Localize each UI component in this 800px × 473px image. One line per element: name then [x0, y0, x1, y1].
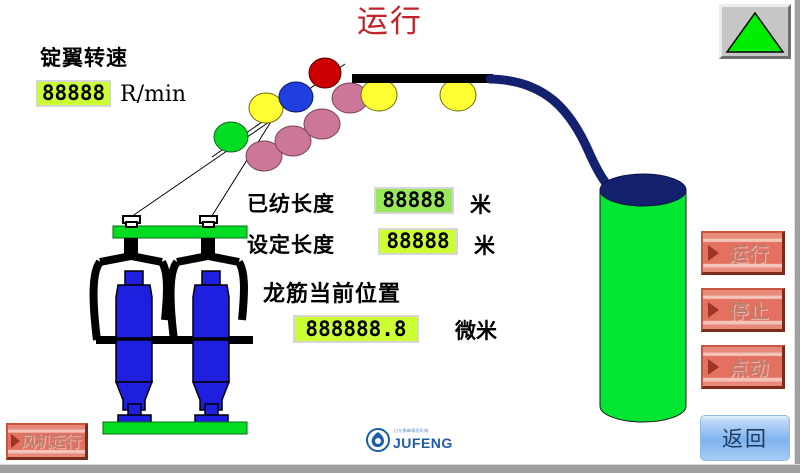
- set-length-value[interactable]: 88888: [378, 228, 458, 255]
- frame-right-edge: [795, 0, 800, 473]
- spun-length-value[interactable]: 88888: [374, 187, 454, 214]
- top-rail: [113, 226, 247, 238]
- flyer-right: [171, 238, 253, 344]
- brand-tagline: 山东聚峰精密机械: [394, 428, 428, 434]
- roller-pink-4: [332, 83, 368, 113]
- rib-position-label: 龙筋当前位置: [263, 276, 401, 308]
- set-length-label: 设定长度: [247, 229, 335, 259]
- roller-pink-3: [304, 109, 340, 139]
- jog-button-label: 点动: [703, 353, 782, 380]
- roller-blue: [279, 82, 313, 112]
- frame-bottom-edge: [0, 464, 800, 473]
- fan-run-button[interactable]: 风机运行: [6, 423, 88, 460]
- back-button[interactable]: 返回: [700, 415, 790, 461]
- bobbin-left: [116, 271, 152, 424]
- stop-button[interactable]: 停止: [701, 288, 785, 332]
- roller-red: [309, 58, 341, 88]
- set-length-unit: 米: [474, 230, 495, 260]
- spun-length-unit: 米: [470, 189, 491, 219]
- spun-length-label: 已纺长度: [247, 188, 335, 218]
- hmi-screen: 运行 锭翼转速 88888 R/min 已纺长度 88888 米 设定长度 88…: [0, 0, 800, 473]
- brand-name: JUFENG: [393, 435, 453, 451]
- fan-run-button-label: 风机运行: [8, 431, 85, 452]
- roller-pink-2: [275, 126, 311, 156]
- spindle-speed-label: 锭翼转速: [40, 42, 128, 72]
- bobbin-right: [193, 271, 229, 424]
- spinning-frame: [94, 216, 253, 434]
- rib-position-value[interactable]: 888888.8: [293, 315, 419, 343]
- rib-position-unit: 微米: [455, 315, 497, 345]
- triangle-up-icon: [725, 11, 785, 54]
- roller-green: [214, 122, 248, 152]
- roller-pink-1: [246, 141, 282, 171]
- top-guide-bar: [352, 74, 493, 83]
- spindle-speed-unit: R/min: [120, 82, 186, 107]
- brand-logo: 山东聚峰精密机械 JUFENG: [365, 427, 457, 453]
- jufeng-droplet-logo: [365, 427, 391, 453]
- roller-yellow-3: [440, 79, 476, 111]
- run-button-label: 运行: [703, 239, 782, 266]
- bottom-rail: [103, 422, 247, 434]
- page-title: 运行: [320, 2, 460, 42]
- nav-up-button[interactable]: [719, 4, 791, 59]
- flyer-left: [94, 238, 176, 344]
- roller-yellow-1: [249, 93, 283, 123]
- jog-button[interactable]: 点动: [701, 345, 785, 389]
- stop-button-label: 停止: [703, 296, 782, 323]
- run-button[interactable]: 运行: [701, 231, 785, 275]
- spindle-speed-value[interactable]: 88888: [36, 80, 111, 107]
- roller-yellow-2: [361, 79, 397, 111]
- take-up-can: [600, 174, 686, 422]
- yarn-path: [490, 79, 628, 196]
